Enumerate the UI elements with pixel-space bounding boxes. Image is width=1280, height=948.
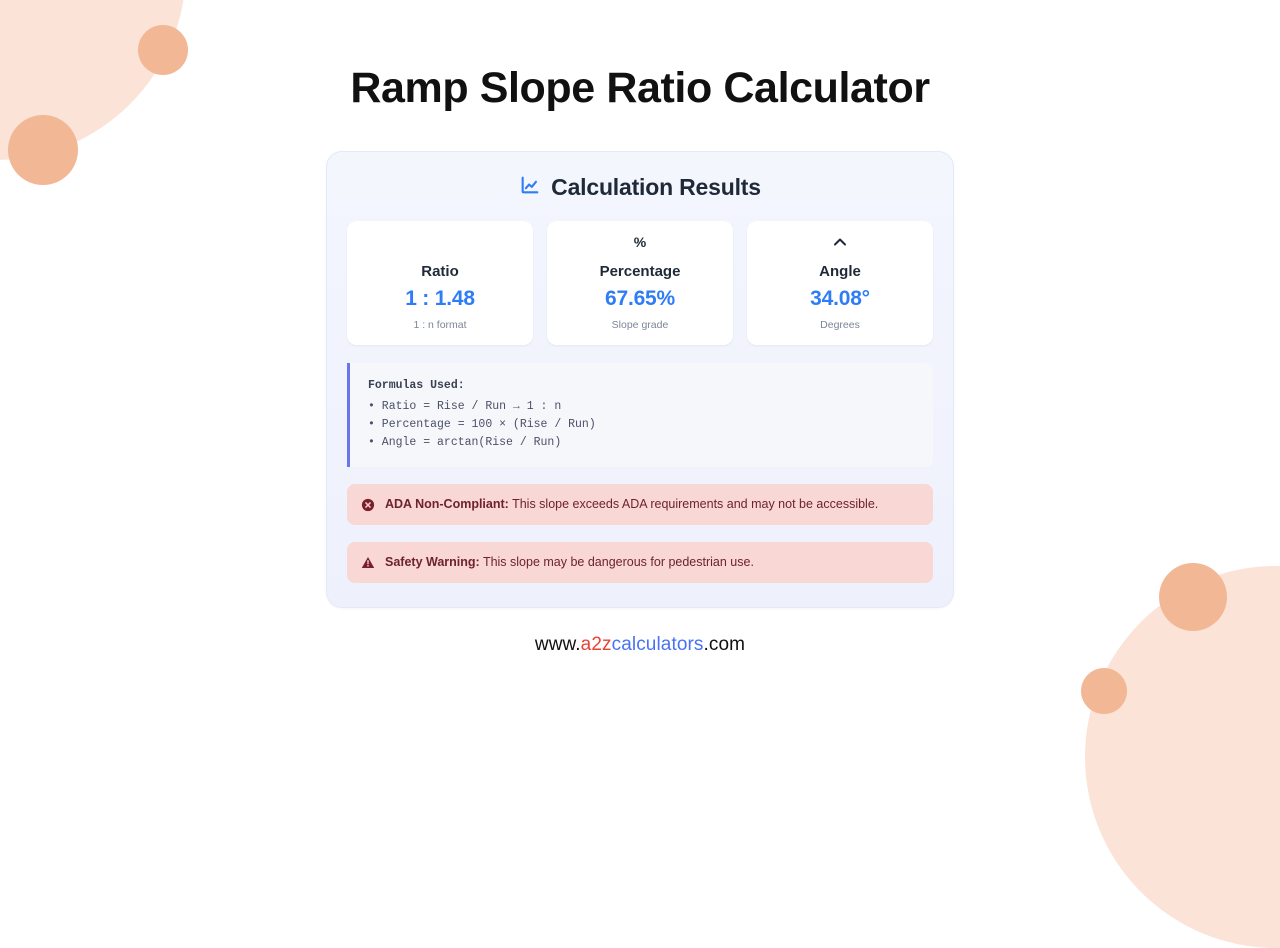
- angle-value: 34.08°: [810, 287, 870, 311]
- alert-ada-non-compliant: ADA Non-Compliant: This slope exceeds AD…: [347, 484, 933, 525]
- formulas-box: Formulas Used: • Ratio = Rise / Run → 1 …: [347, 363, 933, 467]
- line-chart-icon: [519, 174, 541, 201]
- result-card-percentage: % Percentage 67.65% Slope grade: [547, 221, 733, 345]
- formula-item-ratio: • Ratio = Rise / Run → 1 : n: [368, 398, 917, 416]
- chevron-up-icon: [833, 233, 847, 251]
- alert-safety-message: This slope may be dangerous for pedestri…: [483, 555, 754, 569]
- result-cards-row: Ratio 1 : 1.48 1 : n format % Percentage…: [347, 221, 933, 345]
- percent-icon: %: [634, 233, 646, 251]
- alert-safety-warning: Safety Warning: This slope may be danger…: [347, 542, 933, 583]
- alert-safety-text: Safety Warning: This slope may be danger…: [385, 554, 754, 571]
- ratio-label: Ratio: [421, 263, 459, 280]
- site-url-footer: www.a2zcalculators.com: [535, 634, 745, 656]
- panel-header: Calculation Results: [347, 174, 933, 201]
- alert-ada-text: ADA Non-Compliant: This slope exceeds AD…: [385, 496, 878, 513]
- url-brand-a2z: a2z: [581, 634, 612, 655]
- angle-sublabel: Degrees: [820, 319, 860, 331]
- calculation-results-panel: Calculation Results Ratio 1 : 1.48 1 : n…: [326, 151, 954, 607]
- panel-title: Calculation Results: [551, 174, 761, 201]
- x-circle-icon: [361, 498, 375, 512]
- formula-item-angle: • Angle = arctan(Rise / Run): [368, 434, 917, 452]
- ratio-sublabel: 1 : n format: [413, 319, 466, 331]
- result-card-ratio: Ratio 1 : 1.48 1 : n format: [347, 221, 533, 345]
- alert-safety-label: Safety Warning:: [385, 555, 480, 569]
- url-brand-calculators: calculators: [612, 634, 704, 655]
- warning-triangle-icon: [361, 555, 375, 569]
- percentage-value: 67.65%: [605, 287, 675, 311]
- url-prefix: www.: [535, 634, 581, 655]
- url-suffix: .com: [704, 634, 746, 655]
- result-card-angle: Angle 34.08° Degrees: [747, 221, 933, 345]
- alert-ada-label: ADA Non-Compliant:: [385, 497, 509, 511]
- ratio-value: 1 : 1.48: [405, 287, 475, 311]
- formulas-title: Formulas Used:: [368, 377, 917, 395]
- percentage-label: Percentage: [600, 263, 681, 280]
- page-title: Ramp Slope Ratio Calculator: [350, 64, 929, 113]
- formula-item-percentage: • Percentage = 100 × (Rise / Run): [368, 416, 917, 434]
- angle-label: Angle: [819, 263, 861, 280]
- page-root: Ramp Slope Ratio Calculator Calculation …: [0, 0, 1280, 720]
- alert-ada-message: This slope exceeds ADA requirements and …: [512, 497, 878, 511]
- percentage-sublabel: Slope grade: [612, 319, 669, 331]
